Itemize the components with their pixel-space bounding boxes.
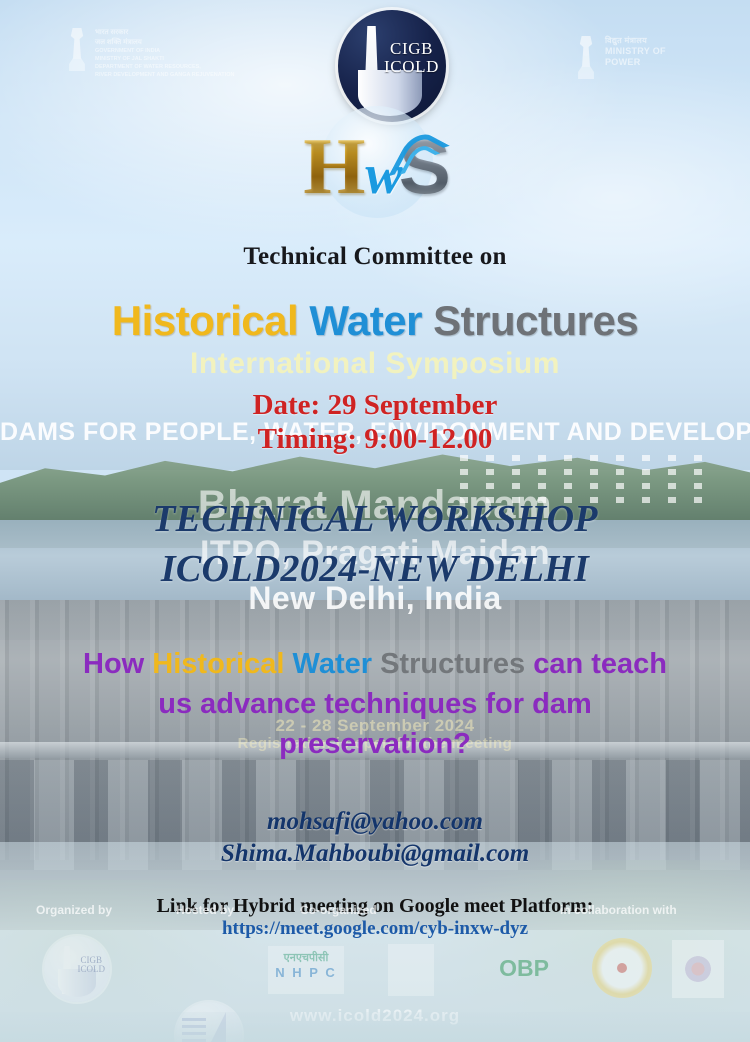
footer-icold-line2: ICOLD (78, 965, 106, 974)
schedule-date: Date: 29 September (0, 388, 750, 422)
question-how: How (83, 648, 152, 680)
footer-nhpc-text: N H P C (268, 965, 344, 980)
question-word-historical: Historical (152, 648, 284, 680)
emblem-left-line4: MINISTRY OF JAL SHAKTI (95, 56, 234, 64)
icold-badge-text: CIGB ICOLD (384, 40, 439, 77)
footer-partner-logo-7-icon (672, 940, 724, 998)
workshop-line-2: ICOLD2024-NEW DELHI (0, 544, 750, 594)
question-space-1 (284, 648, 292, 680)
question-block: How Historical Water Structures can teac… (0, 644, 750, 764)
ministry-jal-shakti-text: भारत सरकार जल शक्ति मंत्रालय GOVERNMENT … (95, 28, 234, 80)
icold-badge-cigb: CIGB (384, 40, 439, 58)
icold-badge-icold: ICOLD (384, 58, 439, 76)
emblem-left-line3: GOVERNMENT OF INDIA (95, 48, 234, 56)
poster-bottom-fade (0, 1012, 750, 1042)
footer-circular-emblem-logo-icon (592, 938, 652, 998)
workshop-heading: TECHNICAL WORKSHOP ICOLD2024-NEW DELHI (0, 494, 750, 594)
footer-emblem-center-dot (617, 963, 627, 973)
footer-label-in-collaboration: in collaboration with (560, 903, 677, 917)
footer-partner-7-mark (685, 956, 711, 982)
question-word-water: Water (293, 648, 373, 680)
footer-icold-text: CIGB ICOLD (78, 956, 106, 975)
contact-email-1[interactable]: mohsafi@yahoo.com (0, 806, 750, 838)
india-emblem-icon (575, 36, 597, 86)
title-space-2 (422, 297, 433, 344)
emblem-right-line1: MINISTRY OF (605, 46, 666, 57)
page-title: Historical Water Structures (0, 297, 750, 345)
footer-nhpc-hindi: एनएचपीसी (268, 950, 344, 965)
hws-letter-h: H (303, 127, 365, 207)
hws-letters: H w S (303, 127, 451, 207)
emblem-right-line2: POWER (605, 57, 666, 68)
title-word-structures: Structures (433, 297, 638, 344)
question-line-3: preservation? (0, 724, 750, 764)
emblem-left-line1: भारत सरकार (95, 28, 234, 38)
hws-logo-icon: H w S (272, 112, 482, 222)
question-tail: can teach (525, 648, 667, 680)
title-space-1 (298, 297, 309, 344)
footer-label-co-organized: Co-organized (300, 903, 377, 917)
technical-committee-prefix: Technical Committee on (0, 243, 750, 271)
footer-nhpc-logo-icon: एनएचपीसी N H P C (268, 946, 344, 994)
ministry-of-power-emblem: विद्युत मंत्रालय MINISTRY OF POWER (575, 36, 666, 86)
emblem-left-line2: जल शक्ति मंत्रालय (95, 38, 234, 48)
question-line-1: How Historical Water Structures can teac… (0, 644, 750, 684)
contact-emails: mohsafi@yahoo.com Shima.Mahboubi@gmail.c… (0, 806, 750, 870)
footer-logo-strip: CIGB ICOLD एनएचपीसी N H P C OBP (0, 930, 750, 1004)
workshop-line-1: TECHNICAL WORKSHOP (0, 494, 750, 544)
question-word-structures: Structures (380, 648, 525, 680)
footer-label-organized-by: Organized by (36, 903, 112, 917)
emblem-left-line5: DEPARTMENT OF WATER RESOURCES, (95, 64, 234, 72)
title-word-historical: Historical (112, 297, 298, 344)
question-space-2 (372, 648, 380, 680)
contact-email-2[interactable]: Shima.Mahboubi@gmail.com (0, 838, 750, 870)
ministry-jal-shakti-emblem: भारत सरकार जल शक्ति मंत्रालय GOVERNMENT … (66, 28, 234, 80)
footer-label-hosted-by: Hosted by (176, 903, 234, 917)
poster-root: DAMS FOR PEOPLE, WATER, ENVIRONMENT AND … (0, 0, 750, 1042)
footer-obp-text: OBP (480, 944, 568, 992)
question-line-2: us advance techniques for dam (0, 684, 750, 724)
footer-partner-logo-4-icon (388, 944, 434, 996)
india-emblem-icon (66, 28, 88, 78)
title-word-water: Water (309, 297, 422, 344)
icold-logo-icon: CIGB ICOLD (338, 10, 446, 122)
schedule-block: Date: 29 September Timing: 9:00-12.00 (0, 388, 750, 456)
schedule-timing: Timing: 9:00-12.00 (0, 422, 750, 456)
emblem-right-hindi: विद्युत मंत्रालय (605, 36, 666, 46)
footer-cigb-icold-logo-icon: CIGB ICOLD (44, 936, 110, 1002)
emblem-left-line6: RIVER DEVELOPMENT AND GANGA REJUVENATION (95, 72, 234, 80)
footer-obp-logo-icon: OBP (480, 944, 568, 992)
ministry-of-power-text: विद्युत मंत्रालय MINISTRY OF POWER (605, 36, 666, 86)
